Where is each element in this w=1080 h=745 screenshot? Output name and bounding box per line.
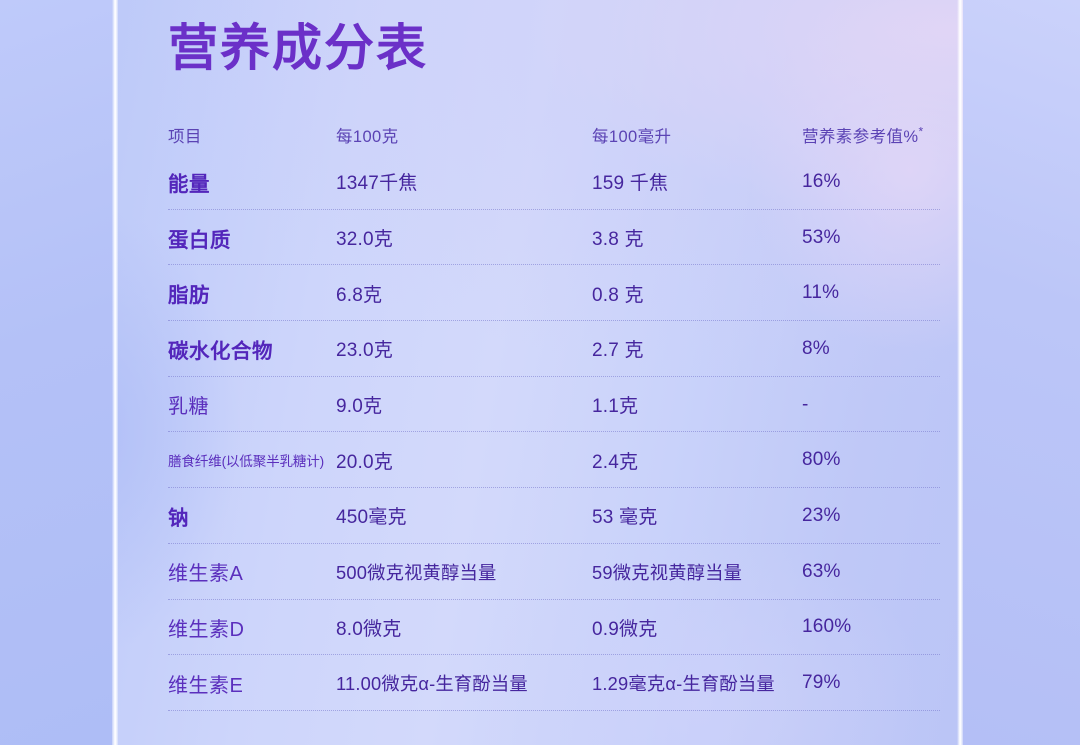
row-per-100ml-value: 53 毫克 — [592, 507, 657, 528]
row-per-100ml-cell: 0.9微克 — [592, 614, 792, 641]
row-per-100g-cell: 11.00微克α-生育酚当量 — [336, 670, 592, 696]
column-header-nrv-text: 营养素参考值% — [802, 128, 918, 146]
row-per-100g-value: 8.0微克 — [336, 619, 401, 640]
row-per-100g-value: 9.0克 — [336, 396, 382, 417]
row-label: 维生素A — [168, 563, 243, 585]
row-per-100ml-value: 1.29毫克α-生育酚当量 — [592, 673, 775, 694]
row-nrv-cell: 80% — [792, 449, 940, 471]
row-nrv-value: 79% — [792, 672, 841, 693]
row-nrv-value: 80% — [792, 449, 841, 470]
row-per-100ml-value: 3.8 克 — [592, 229, 644, 250]
row-per-100ml-cell: 59微克视黄醇当量 — [592, 559, 792, 585]
row-per-100g-cell: 20.0克 — [336, 447, 592, 474]
row-per-100g-value: 450毫克 — [336, 507, 407, 528]
row-nrv-cell: 16% — [792, 171, 940, 193]
row-label: 脂肪 — [168, 284, 210, 307]
row-nrv-cell: - — [792, 394, 940, 416]
row-per-100g-cell: 6.8克 — [336, 280, 592, 307]
row-per-100g-value: 1347千焦 — [336, 173, 417, 194]
row-nrv-value: 11% — [792, 282, 839, 303]
row-per-100g-cell: 32.0克 — [336, 224, 592, 251]
row-label: 维生素E — [168, 675, 243, 697]
row-per-100g-value: 20.0克 — [336, 452, 393, 473]
row-per-100ml-cell: 1.29毫克α-生育酚当量 — [592, 670, 792, 696]
row-nrv-cell: 79% — [792, 672, 940, 694]
page-title: 营养成分表 — [168, 18, 428, 79]
row-per-100g-cell: 8.0微克 — [336, 614, 592, 641]
row-per-100ml-cell: 53 毫克 — [592, 502, 792, 529]
row-per-100g-cell: 500微克视黄醇当量 — [336, 559, 592, 585]
column-header-item: 项目 — [168, 123, 336, 147]
table-row: 脂肪 6.8克 0.8 克 11% — [168, 265, 940, 321]
nutrition-label-page: 营养成分表 项目 每100克 每100毫升 营养素参考值%* 能量 1347千焦… — [0, 0, 1080, 745]
column-header-per-100g: 每100克 — [336, 123, 592, 147]
row-nrv-value: 16% — [792, 171, 841, 192]
row-nrv-cell: 11% — [792, 282, 940, 304]
row-per-100ml-value: 0.8 克 — [592, 285, 644, 306]
column-header-per-100ml: 每100毫升 — [592, 123, 792, 147]
row-label: 碳水化合物 — [168, 340, 273, 363]
row-per-100g-cell: 23.0克 — [336, 335, 592, 362]
row-per-100g-cell: 1347千焦 — [336, 168, 592, 195]
row-label-cell: 膳食纤维(以低聚半乳糖计) — [168, 450, 336, 471]
table-row: 乳糖 9.0克 1.1克 - — [168, 377, 940, 433]
row-per-100g-value: 11.00微克α-生育酚当量 — [336, 673, 528, 694]
right-seam-divider — [957, 0, 963, 745]
row-per-100ml-cell: 3.8 克 — [592, 224, 792, 251]
content-area: 营养成分表 项目 每100克 每100毫升 营养素参考值%* 能量 1347千焦… — [118, 0, 957, 745]
row-label-cell: 脂肪 — [168, 278, 336, 308]
column-header-nrv: 营养素参考值%* — [792, 123, 950, 147]
row-label: 乳糖 — [168, 396, 209, 418]
row-per-100g-value: 23.0克 — [336, 340, 393, 361]
row-per-100ml-value: 2.7 克 — [592, 340, 644, 361]
row-label-cell: 乳糖 — [168, 390, 336, 419]
row-per-100ml-cell: 0.8 克 — [592, 280, 792, 307]
row-nrv-cell: 160% — [792, 616, 940, 638]
table-row: 碳水化合物 23.0克 2.7 克 8% — [168, 321, 940, 377]
row-per-100g-cell: 9.0克 — [336, 391, 592, 418]
row-label: 能量 — [168, 173, 210, 196]
table-row: 钠 450毫克 53 毫克 23% — [168, 488, 940, 544]
row-nrv-value: 63% — [792, 561, 841, 582]
row-per-100ml-cell: 159 千焦 — [592, 168, 792, 195]
row-nrv-cell: 8% — [792, 338, 940, 360]
row-nrv-cell: 23% — [792, 505, 940, 527]
table-header-row: 项目 每100克 每100毫升 营养素参考值%* — [168, 110, 940, 154]
table-row: 膳食纤维(以低聚半乳糖计) 20.0克 2.4克 80% — [168, 432, 940, 488]
table-row: 维生素D 8.0微克 0.9微克 160% — [168, 600, 940, 656]
row-label-cell: 钠 — [168, 501, 336, 531]
row-label: 维生素D — [168, 619, 244, 641]
table-row: 蛋白质 32.0克 3.8 克 53% — [168, 210, 940, 266]
row-label: 蛋白质 — [168, 229, 231, 252]
row-nrv-cell: 53% — [792, 227, 940, 249]
row-per-100g-value: 6.8克 — [336, 285, 382, 306]
row-nrv-value: 8% — [792, 338, 830, 359]
row-label-cell: 蛋白质 — [168, 223, 336, 253]
row-nrv-value: 160% — [792, 616, 851, 637]
row-nrv-value: 53% — [792, 227, 841, 248]
row-per-100g-cell: 450毫克 — [336, 502, 592, 529]
table-row: 维生素A 500微克视黄醇当量 59微克视黄醇当量 63% — [168, 544, 940, 600]
row-per-100g-value: 32.0克 — [336, 229, 393, 250]
row-label-cell: 维生素D — [168, 613, 336, 642]
row-label-cell: 能量 — [168, 167, 336, 197]
row-per-100ml-value: 0.9微克 — [592, 619, 657, 640]
row-label: 钠 — [168, 507, 189, 530]
row-per-100g-value: 500微克视黄醇当量 — [336, 562, 496, 583]
row-label-cell: 碳水化合物 — [168, 334, 336, 364]
row-per-100ml-value: 1.1克 — [592, 396, 638, 417]
row-per-100ml-value: 59微克视黄醇当量 — [592, 562, 742, 583]
nutrition-table: 项目 每100克 每100毫升 营养素参考值%* 能量 1347千焦 159 千… — [168, 110, 940, 711]
row-per-100ml-value: 159 千焦 — [592, 173, 668, 194]
left-edge-panel — [0, 0, 112, 745]
row-nrv-cell: 63% — [792, 561, 940, 583]
row-per-100ml-cell: 2.7 克 — [592, 335, 792, 362]
row-per-100ml-cell: 1.1克 — [592, 391, 792, 418]
row-per-100ml-value: 2.4克 — [592, 452, 638, 473]
row-label: 膳食纤维(以低聚半乳糖计) — [168, 454, 324, 469]
table-row: 维生素E 11.00微克α-生育酚当量 1.29毫克α-生育酚当量 79% — [168, 655, 940, 711]
row-label-cell: 维生素A — [168, 557, 336, 586]
row-label-cell: 维生素E — [168, 669, 336, 698]
row-per-100ml-cell: 2.4克 — [592, 447, 792, 474]
row-nrv-value: 23% — [792, 505, 841, 526]
row-nrv-value: - — [792, 394, 809, 415]
nrv-asterisk: * — [918, 125, 923, 139]
table-row: 能量 1347千焦 159 千焦 16% — [168, 154, 940, 210]
right-edge-panel — [963, 0, 1080, 745]
